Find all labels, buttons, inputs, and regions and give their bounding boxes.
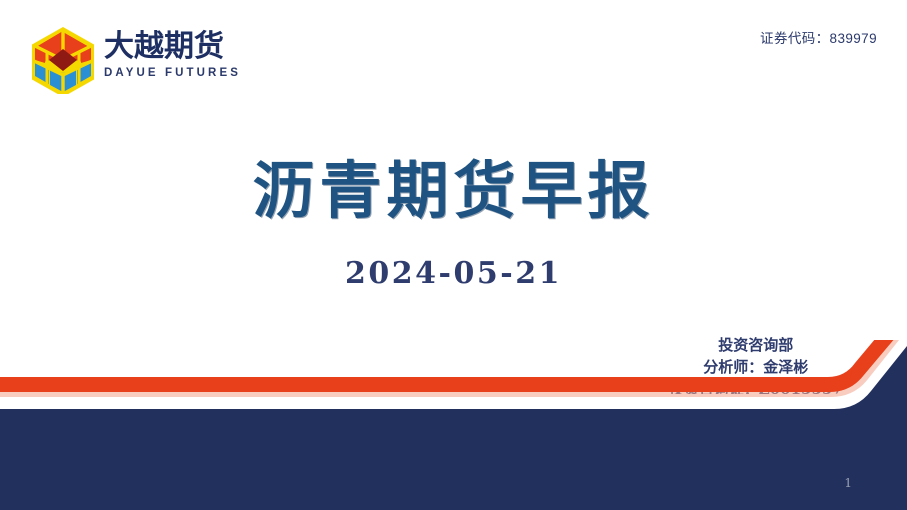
security-code-label: 证券代码：839979 (760, 27, 877, 47)
slide-canvas: 大越期货 DAYUE FUTURES 证券代码：839979 沥青期货早报 20… (0, 0, 907, 510)
logo-english-name: DAYUE FUTURES (104, 65, 244, 81)
logo-chinese-name: 大越期货 (104, 30, 244, 64)
dayue-hexagon-cube-logo-icon (30, 26, 96, 94)
logo-wordmark: 大越期货 DAYUE FUTURES (104, 30, 244, 81)
page-number: 1 (844, 476, 852, 490)
report-date: 2024-05-21 (0, 254, 907, 294)
bottom-decoration-banner (0, 340, 907, 510)
white-gap (0, 340, 907, 409)
orange-stripe (0, 340, 907, 392)
page-title: 沥青期货早报 (0, 152, 907, 230)
navy-band (0, 342, 907, 510)
company-logo: 大越期货 DAYUE FUTURES (30, 24, 240, 96)
